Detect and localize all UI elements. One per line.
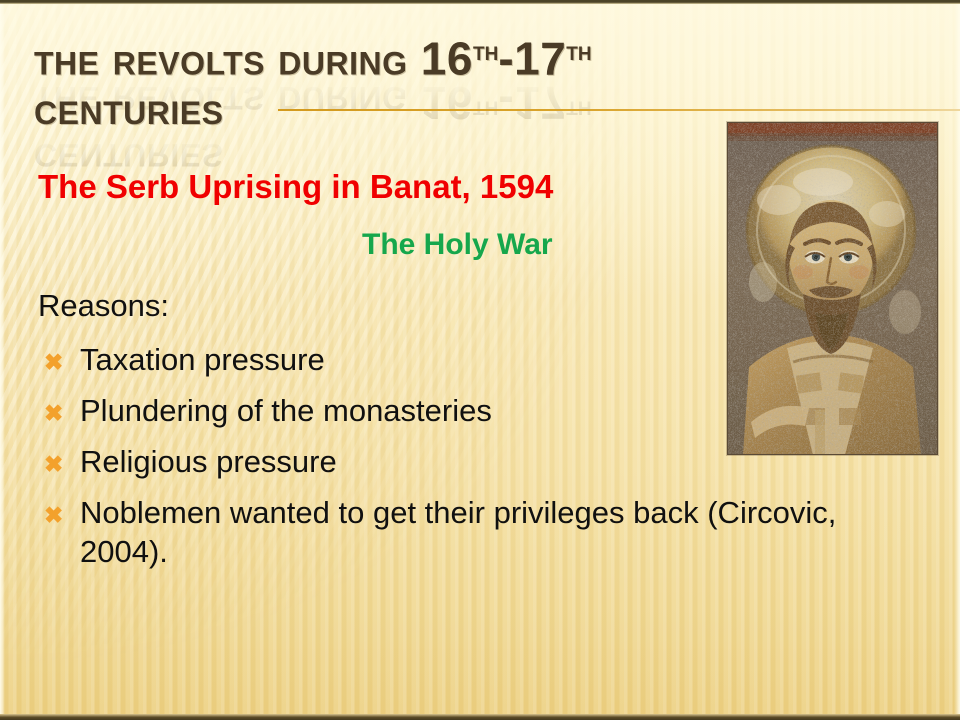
title-line1-mid: -17 [498, 32, 566, 84]
title-superscript-th-2: th [566, 35, 591, 66]
slide-bottom-border [0, 714, 960, 720]
list-item-label: Noblemen wanted to get their privileges … [80, 495, 836, 569]
bullet-cross-icon: ✖ [44, 343, 63, 382]
fresco-image [727, 122, 938, 455]
list-item: ✖ Noblemen wanted to get their privilege… [38, 493, 928, 571]
list-item-label: Taxation pressure [80, 342, 325, 377]
title-line1-prefix: The Revolts During 16 [34, 32, 473, 84]
presentation-slide: The Revolts During 16th-17th Centuries T… [0, 0, 960, 720]
bullet-cross-icon: ✖ [44, 496, 63, 535]
title-divider-rule [278, 109, 960, 111]
background-right-edge-highlight [954, 0, 960, 720]
page-title: The Revolts During 16th-17th Centuries [34, 26, 734, 133]
list-item-label: Plundering of the monasteries [80, 393, 492, 428]
title-superscript-th-1: th [473, 35, 498, 66]
title-line-1: The Revolts During 16th-17th [34, 26, 734, 83]
subtitle-holy-war: The Holy War [362, 228, 553, 262]
bullet-cross-icon: ✖ [44, 394, 63, 433]
fresco-illustration [727, 122, 938, 455]
slide-top-border [0, 0, 960, 4]
reasons-heading: Reasons: [38, 288, 169, 324]
list-item-label: Religious pressure [80, 444, 337, 479]
background-left-edge-highlight [0, 0, 5, 720]
bullet-cross-icon: ✖ [44, 445, 63, 484]
subtitle-serb-uprising: The Serb Uprising in Banat, 1594 [38, 168, 553, 206]
